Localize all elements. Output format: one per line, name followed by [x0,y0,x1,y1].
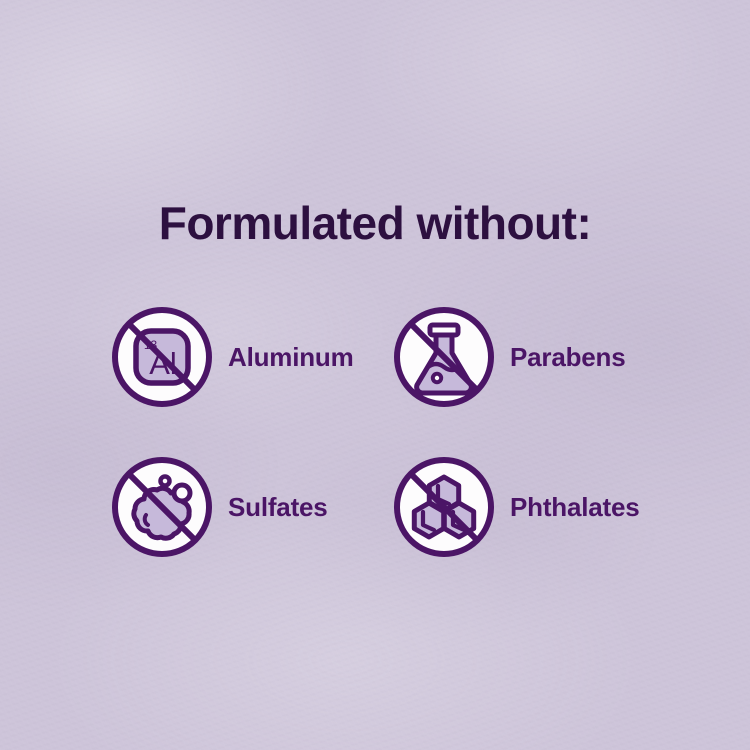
formulated-without-graphic: Formulated without: 13 Al Aluminum [0,0,750,750]
claim-item-phthalates: Phthalates [392,432,674,582]
claim-label-parabens: Parabens [510,342,625,373]
claim-label-aluminum: Aluminum [228,342,354,373]
claim-label-phthalates: Phthalates [510,492,640,523]
no-phthalates-hexagons-icon [392,455,496,559]
no-sulfates-foam-icon [110,455,214,559]
page-title: Formulated without: [0,196,750,250]
claim-label-sulfates: Sulfates [228,492,328,523]
claims-grid: 13 Al Aluminum [110,282,670,582]
no-parabens-flask-icon [392,305,496,409]
claim-item-sulfates: Sulfates [110,432,392,582]
no-aluminum-icon: 13 Al [110,305,214,409]
claim-item-parabens: Parabens [392,282,674,432]
claim-item-aluminum: 13 Al Aluminum [110,282,392,432]
